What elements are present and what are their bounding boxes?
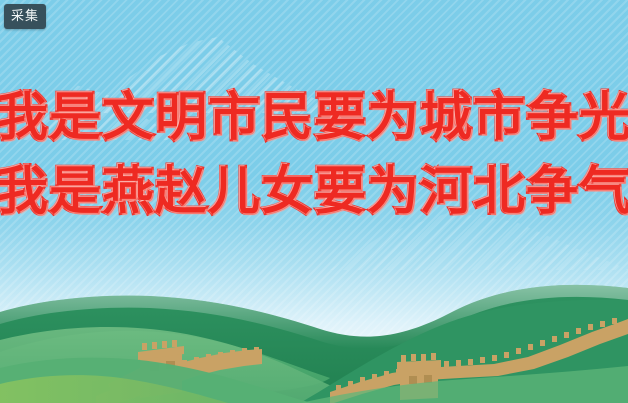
hill-mid-left <box>0 331 330 403</box>
headline-line-2-left: 我是燕赵儿女 <box>0 166 314 218</box>
headline-line-1: 我是文明市民 要为城市争光 <box>0 92 628 166</box>
headline-line-2: 我是燕赵儿女 要为河北争气 <box>0 166 628 240</box>
headline-line-1-right: 要为城市争光 <box>314 92 628 144</box>
capture-button[interactable]: 采集 <box>4 4 46 29</box>
headline-line-1-left: 我是文明市民 <box>0 92 314 144</box>
hill-foreground-left <box>0 358 312 403</box>
hill-right-light <box>300 366 628 403</box>
headline-line-2-right: 要为河北争气 <box>314 166 628 218</box>
great-wall-right-tower <box>397 353 441 400</box>
headline-block: 我是文明市民 要为城市争光 我是燕赵儿女 要为河北争气 <box>0 92 628 240</box>
great-wall-left-tower <box>138 340 184 398</box>
hill-lime-highlight <box>0 375 228 403</box>
great-wall-left <box>96 340 262 403</box>
poster-banner: 我是文明市民 要为城市争光 我是燕赵儿女 要为河北争气 采集 <box>0 0 628 403</box>
great-wall-left-battlements <box>110 347 259 390</box>
